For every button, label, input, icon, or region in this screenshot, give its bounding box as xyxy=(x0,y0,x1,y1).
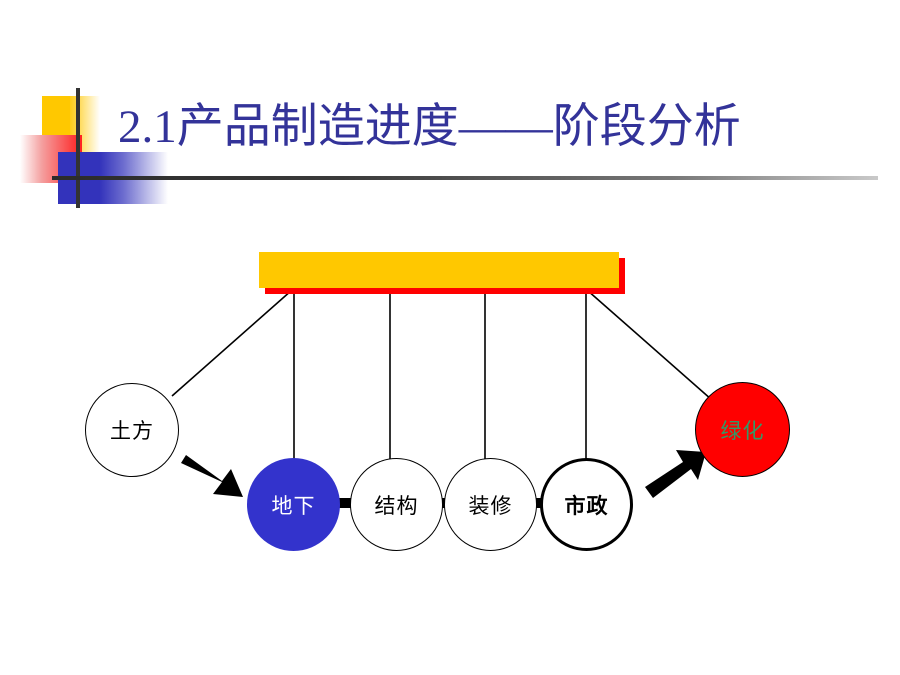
phase-node-shizheng[interactable]: 市政 xyxy=(540,458,633,551)
flow-arrow-tufang-dixia xyxy=(181,455,243,497)
phase-node-label: 市政 xyxy=(565,490,609,520)
phase-node-label: 地下 xyxy=(272,490,316,520)
flow-arrow-layer xyxy=(0,0,900,675)
phase-node-zhuangxiu[interactable]: 装修 xyxy=(444,458,537,551)
phase-node-tufang[interactable]: 土方 xyxy=(85,383,179,477)
phase-node-dixia[interactable]: 地下 xyxy=(247,458,340,551)
phase-node-label: 土方 xyxy=(110,415,154,445)
phase-node-lvhua[interactable]: 绿化 xyxy=(695,382,790,477)
phase-node-label: 结构 xyxy=(375,490,419,520)
phase-analysis-diagram: 土方 地下 结构 装修 市政 绿化 xyxy=(0,0,900,675)
phase-node-label: 绿化 xyxy=(721,415,765,445)
phase-node-jiegou[interactable]: 结构 xyxy=(350,458,443,551)
flow-arrow-shizheng-lvhua xyxy=(645,450,706,498)
phase-node-label: 装修 xyxy=(469,490,513,520)
slide-canvas: 2.1产品制造进度——阶段分析 xyxy=(0,0,900,675)
